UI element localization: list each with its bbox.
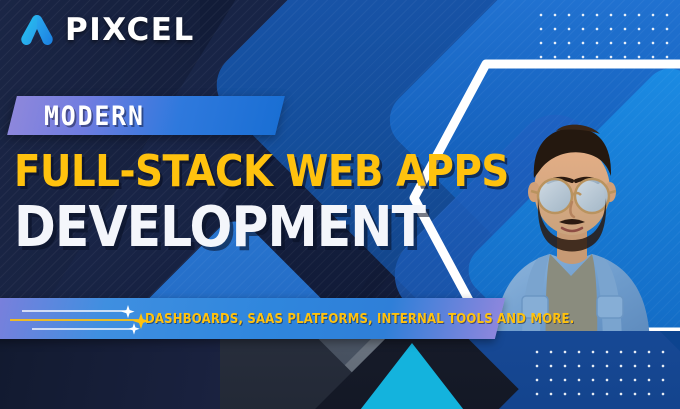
dot-grid-icon-bottom [530, 345, 670, 401]
headline-line-1: FULL-STACK WEB APPS [14, 150, 392, 194]
speed-lines-sparkle-icon [10, 302, 150, 336]
subtitle-text: DASHBOARDS, SAAS PLATFORMS, INTERNAL TOO… [145, 306, 574, 332]
eyebrow-text: MODERN [44, 100, 145, 132]
cyan-triangle-icon [350, 343, 474, 409]
banner-canvas: PIXCEL MODERN FULL-STACK WEB APPS DEVELO… [0, 0, 680, 409]
pixcel-a-mark-icon [18, 12, 56, 48]
brand-name: PIXCEL [65, 15, 195, 46]
brand-logo[interactable]: PIXCEL [18, 12, 195, 48]
headline-block: FULL-STACK WEB APPS DEVELOPMENT [14, 150, 444, 256]
headline-line-2: DEVELOPMENT [14, 200, 401, 256]
